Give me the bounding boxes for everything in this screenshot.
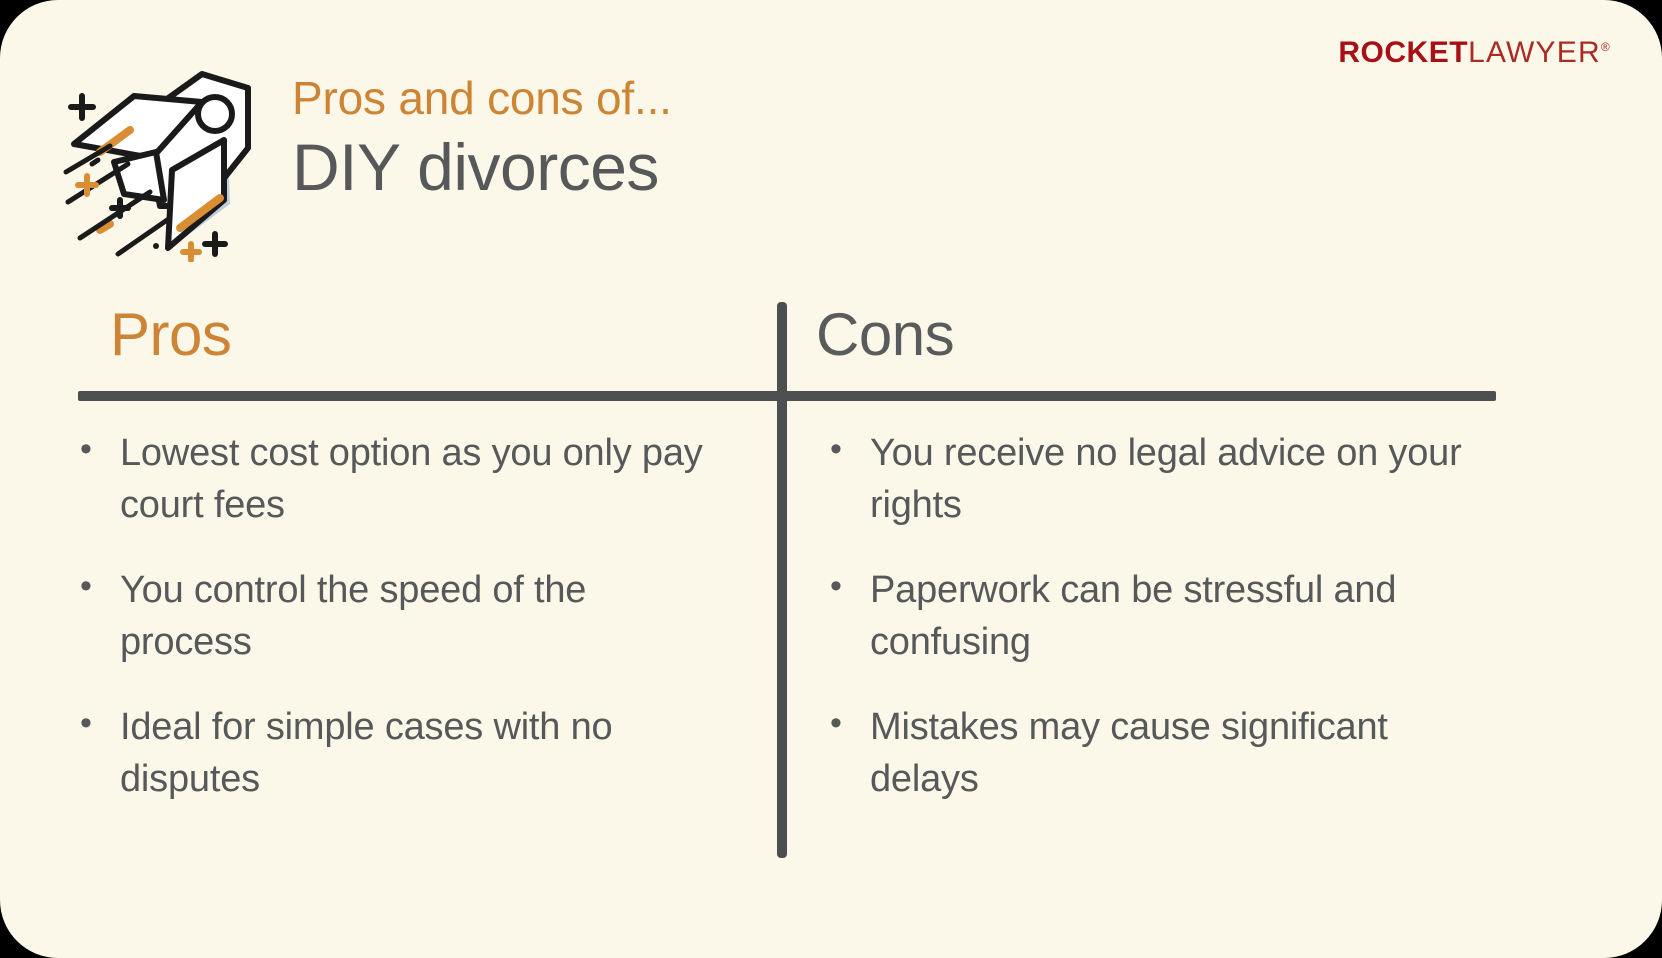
list-item: Lowest cost option as you only pay court… [72,427,712,532]
header: ROCKETLAWYER® [0,0,1662,290]
rocket-icon [52,52,272,262]
logo-light-text: LAWYER [1468,36,1601,69]
pros-heading: Pros [110,305,231,365]
rocket-lawyer-logo: ROCKETLAWYER® [1338,38,1610,68]
vertical-divider [777,302,787,858]
horizontal-divider [78,391,1496,401]
list-item: You control the speed of the process [72,564,712,669]
pros-list: Lowest cost option as you only pay court… [72,427,712,838]
infographic-card: ROCKETLAWYER® [0,0,1662,958]
title-block: Pros and cons of... DIY divorces [292,72,672,203]
registered-trademark-icon: ® [1601,40,1610,54]
list-item: Mistakes may cause significant delays [822,701,1462,806]
list-item: Paperwork can be stressful and confusing [822,564,1462,669]
column-headings: Pros Cons [78,305,1496,393]
eyebrow-text: Pros and cons of... [292,72,672,125]
cons-list: You receive no legal advice on your righ… [822,427,1462,838]
list-item: You receive no legal advice on your righ… [822,427,1462,532]
cons-heading: Cons [816,305,954,365]
page-title: DIY divorces [292,131,672,204]
list-item: Ideal for simple cases with no disputes [72,701,712,806]
comparison-section: Pros Cons Lowest cost option as you only… [0,295,1662,895]
logo-bold-text: ROCKET [1338,36,1468,69]
